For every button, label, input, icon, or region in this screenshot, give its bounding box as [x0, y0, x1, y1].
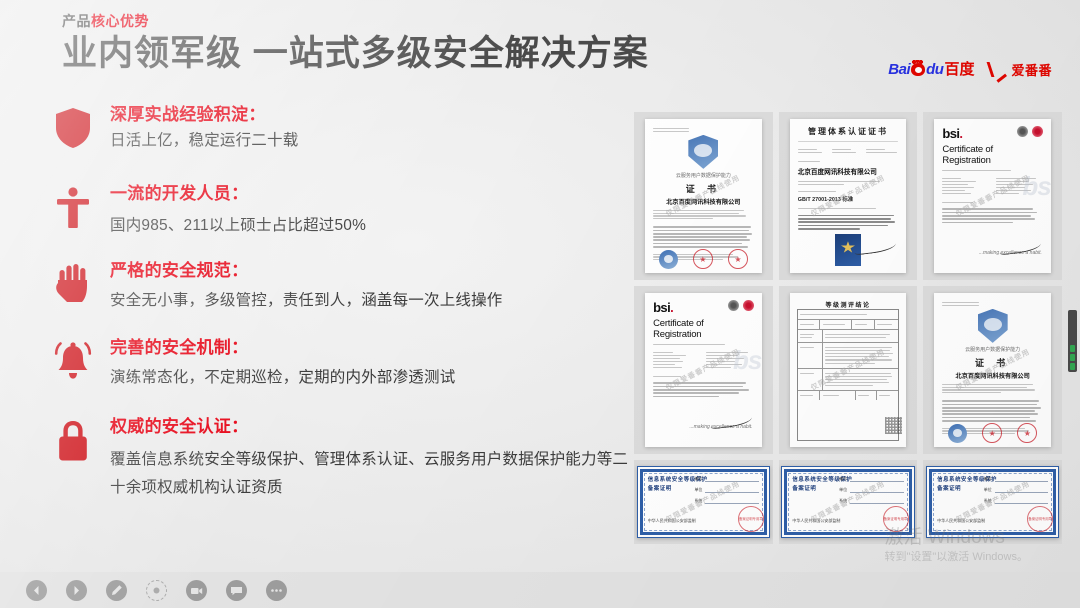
red-seal-icon: 备案证明专用章	[738, 506, 764, 532]
certificate-thumbnail[interactable]: 云服务用户数据保护能力 证 书 北京百度网讯科技有限公司	[634, 112, 773, 280]
baidu-logo-text-1: Bai	[888, 62, 910, 77]
list-item-text: 演练常态化，不定期巡检，定期的内外部渗透测试	[110, 366, 616, 390]
red-seal-icon	[693, 249, 713, 269]
cert-mps-filing-3: 信息系统安全等级保护备案证明 编号 单位 系统 中华人民共和国公安部监制 备案证…	[926, 466, 1059, 538]
list-item-text: 日活上亿，稳定运行二十载	[110, 129, 616, 153]
bsi-watermark-icon: bsi	[1022, 171, 1051, 202]
bsi-tagline: ...making excellence a habit.	[979, 250, 1042, 256]
cert-org-line: 云服务用户数据保护能力	[653, 172, 753, 179]
baidu-logo: Bai du 百度	[888, 62, 974, 77]
cert-bsi-registration-1: bsi. Certificate of Registration	[934, 119, 1050, 274]
certificate-thumbnail[interactable]: 信息系统安全等级保护备案证明 编号 单位 系统 中华人民共和国公安部监制 备案证…	[634, 460, 773, 544]
qr-code-icon	[885, 417, 902, 434]
pen-button[interactable]	[106, 580, 127, 601]
advantages-list: 深厚实战经验积淀： 日活上亿，稳定运行二十载 一流的开发人员： 国内985、21…	[36, 104, 616, 503]
comment-icon	[230, 585, 243, 596]
shield-icon	[36, 104, 110, 148]
table-row	[798, 330, 898, 343]
ukas-mark-icon	[728, 300, 739, 311]
cert-standard: GB/T 27001-2013 标准	[798, 195, 898, 203]
cert-mps-filing-1: 信息系统安全等级保护备案证明 编号 单位 系统 中华人民共和国公安部监制 备案证…	[637, 466, 770, 538]
list-item: 严格的安全规范： 安全无小事，多级管控，责任到人，涵盖每一次上线操作	[36, 260, 616, 313]
cert-issuer: 中华人民共和国公安部监制	[792, 518, 840, 524]
eyebrow-dark: 产品	[62, 13, 91, 29]
list-item-heading: 深厚实战经验积淀：	[110, 104, 616, 126]
cert-cloud-service-2: 云服务用户数据保护能力 证 书 北京百度网讯科技有限公司	[934, 293, 1050, 448]
bsi-tagline: ...making excellence a habit.	[689, 424, 752, 430]
list-item-text: 国内985、211以上硕士占比超过50%	[110, 214, 616, 238]
table-row	[798, 310, 898, 320]
cert-title: 证 书	[653, 182, 753, 195]
cert-company: 北京百度网讯科技有限公司	[653, 197, 753, 206]
list-item-heading: 完善的安全机制：	[110, 337, 616, 359]
cert-company: 北京百度网讯科技有限公司	[798, 166, 898, 176]
blue-badge-icon	[659, 250, 678, 269]
blue-badge-icon	[948, 424, 967, 443]
list-item: 一流的开发人员： 国内985、211以上硕士占比超过50%	[36, 183, 616, 238]
record-button[interactable]	[186, 580, 207, 601]
next-slide-button[interactable]	[66, 580, 87, 601]
red-seal-icon	[1017, 423, 1037, 443]
list-item-text: 安全无小事，多级管控，责任到人，涵盖每一次上线操作	[110, 289, 616, 313]
cnas-mark-icon	[1032, 126, 1043, 137]
list-item-text: 覆盖信息系统安全等级保护、管理体系认证、云服务用户数据保护能力等二十余项权威机构…	[110, 446, 630, 503]
cert-issuer: 中华人民共和国公安部监制	[648, 518, 696, 524]
notes-button[interactable]	[226, 580, 247, 601]
certificate-thumbnail[interactable]: 等级测评结论	[779, 286, 918, 454]
laser-pointer-button[interactable]	[146, 580, 167, 601]
ellipsis-icon	[270, 588, 283, 593]
presentation-toolbar	[0, 572, 1080, 608]
cert-bsi-registration-2: bsi. Certificate of Registration	[645, 293, 761, 448]
certificate-thumbnail[interactable]: 管理体系认证证书 北京百度网讯科技有限公司 GB/T 27001-2013 标准	[779, 112, 918, 280]
aifanfan-mark-icon	[988, 62, 1007, 77]
table-row	[798, 343, 898, 369]
cert-title: Certificate of Registration	[942, 144, 1042, 166]
list-item-heading: 严格的安全规范：	[110, 260, 616, 282]
certificate-gallery: 云服务用户数据保护能力 证 书 北京百度网讯科技有限公司	[634, 112, 1062, 544]
list-item-heading: 一流的开发人员：	[110, 183, 616, 205]
laser-pointer-icon	[151, 585, 162, 596]
baidu-logo-cn: 百度	[944, 62, 974, 77]
cnas-mark-icon	[743, 300, 754, 311]
chevron-left-icon	[31, 585, 42, 596]
lock-icon	[36, 416, 110, 462]
hand-icon	[36, 260, 110, 304]
brand-logos: Bai du 百度 爱番番	[888, 60, 1052, 79]
certificate-thumbnail[interactable]: bsi. Certificate of Registration	[923, 112, 1062, 280]
scroll-progress-indicator[interactable]	[1068, 310, 1077, 372]
list-item-heading: 权威的安全认证：	[110, 416, 630, 438]
cert-seals	[934, 423, 1050, 443]
certificate-thumbnail[interactable]: 云服务用户数据保护能力 证 书 北京百度网讯科技有限公司	[923, 286, 1062, 454]
eyebrow-text: 产品核心优势	[62, 14, 649, 28]
certificate-thumbnail[interactable]: bsi. Certificate of Registration	[634, 286, 773, 454]
activate-windows-subtitle: 转到"设置"以激活 Windows。	[885, 550, 1029, 564]
presentation-slide: 产品核心优势 业内领军级 一站式多级安全解决方案 Bai du 百度 爱番番	[0, 0, 1080, 608]
cert-cloud-service-1: 云服务用户数据保护能力 证 书 北京百度网讯科技有限公司	[645, 119, 761, 274]
cert-issuer: 中华人民共和国公安部监制	[937, 518, 985, 524]
table-row	[798, 369, 898, 391]
table-row	[798, 391, 898, 400]
pen-icon	[110, 584, 123, 597]
cloud-shield-logo-icon	[978, 309, 1008, 343]
red-seal-icon: 备案证明专用章	[883, 506, 909, 532]
cert-mps-filing-2: 信息系统安全等级保护备案证明 编号 单位 系统 中华人民共和国公安部监制 备案证…	[781, 466, 914, 538]
list-item: 权威的安全认证： 覆盖信息系统安全等级保护、管理体系认证、云服务用户数据保护能力…	[36, 416, 616, 502]
cert-title: 等级测评结论	[798, 300, 898, 309]
chevron-right-icon	[71, 585, 82, 596]
video-camera-icon	[190, 585, 203, 596]
cert-title: 证 书	[942, 356, 1042, 369]
progress-segment	[1070, 345, 1075, 352]
accreditation-marks	[1017, 126, 1043, 137]
report-table	[797, 309, 899, 442]
more-options-button[interactable]	[266, 580, 287, 601]
cert-management-system: 管理体系认证证书 北京百度网讯科技有限公司 GB/T 27001-2013 标准	[790, 119, 906, 274]
progress-segment	[1070, 363, 1075, 370]
cert-company: 北京百度网讯科技有限公司	[942, 371, 1042, 380]
baidu-paw-icon	[911, 63, 925, 76]
page-title: 业内领军级 一站式多级安全解决方案	[62, 34, 649, 73]
cert-org-line: 云服务用户数据保护能力	[942, 346, 1042, 353]
red-seal-icon	[982, 423, 1002, 443]
table-row	[798, 320, 898, 330]
red-seal-icon	[728, 249, 748, 269]
baidu-logo-text-2: du	[926, 62, 943, 77]
person-icon	[36, 183, 110, 229]
cert-title: Certificate of Registration	[653, 318, 753, 340]
list-item: 深厚实战经验积淀： 日活上亿，稳定运行二十载	[36, 104, 616, 153]
aifanfan-logo: 爱番番	[988, 60, 1052, 79]
cert-seals	[645, 249, 761, 269]
aifanfan-logo-text: 爱番番	[1011, 60, 1052, 79]
accreditation-marks	[728, 300, 754, 311]
previous-slide-button[interactable]	[26, 580, 47, 601]
progress-segment	[1070, 354, 1075, 361]
bsi-watermark-icon: bsi	[733, 345, 762, 376]
cloud-shield-logo-icon	[688, 135, 718, 169]
slide-header: 产品核心优势 业内领军级 一站式多级安全解决方案	[62, 14, 649, 73]
cert-grading-report: 等级测评结论	[790, 293, 906, 448]
cert-title: 管理体系认证证书	[798, 126, 898, 137]
certificate-thumbnail[interactable]: 信息系统安全等级保护备案证明 编号 单位 系统 中华人民共和国公安部监制 备案证…	[779, 460, 918, 544]
certificate-thumbnail[interactable]: 信息系统安全等级保护备案证明 编号 单位 系统 中华人民共和国公安部监制 备案证…	[923, 460, 1062, 544]
eyebrow-red: 核心优势	[91, 13, 149, 29]
signature-mark	[854, 241, 896, 253]
list-item: 完善的安全机制： 演练常态化，不定期巡检，定期的内外部渗透测试	[36, 337, 616, 390]
bell-icon	[36, 337, 110, 381]
ukas-mark-icon	[1017, 126, 1028, 137]
